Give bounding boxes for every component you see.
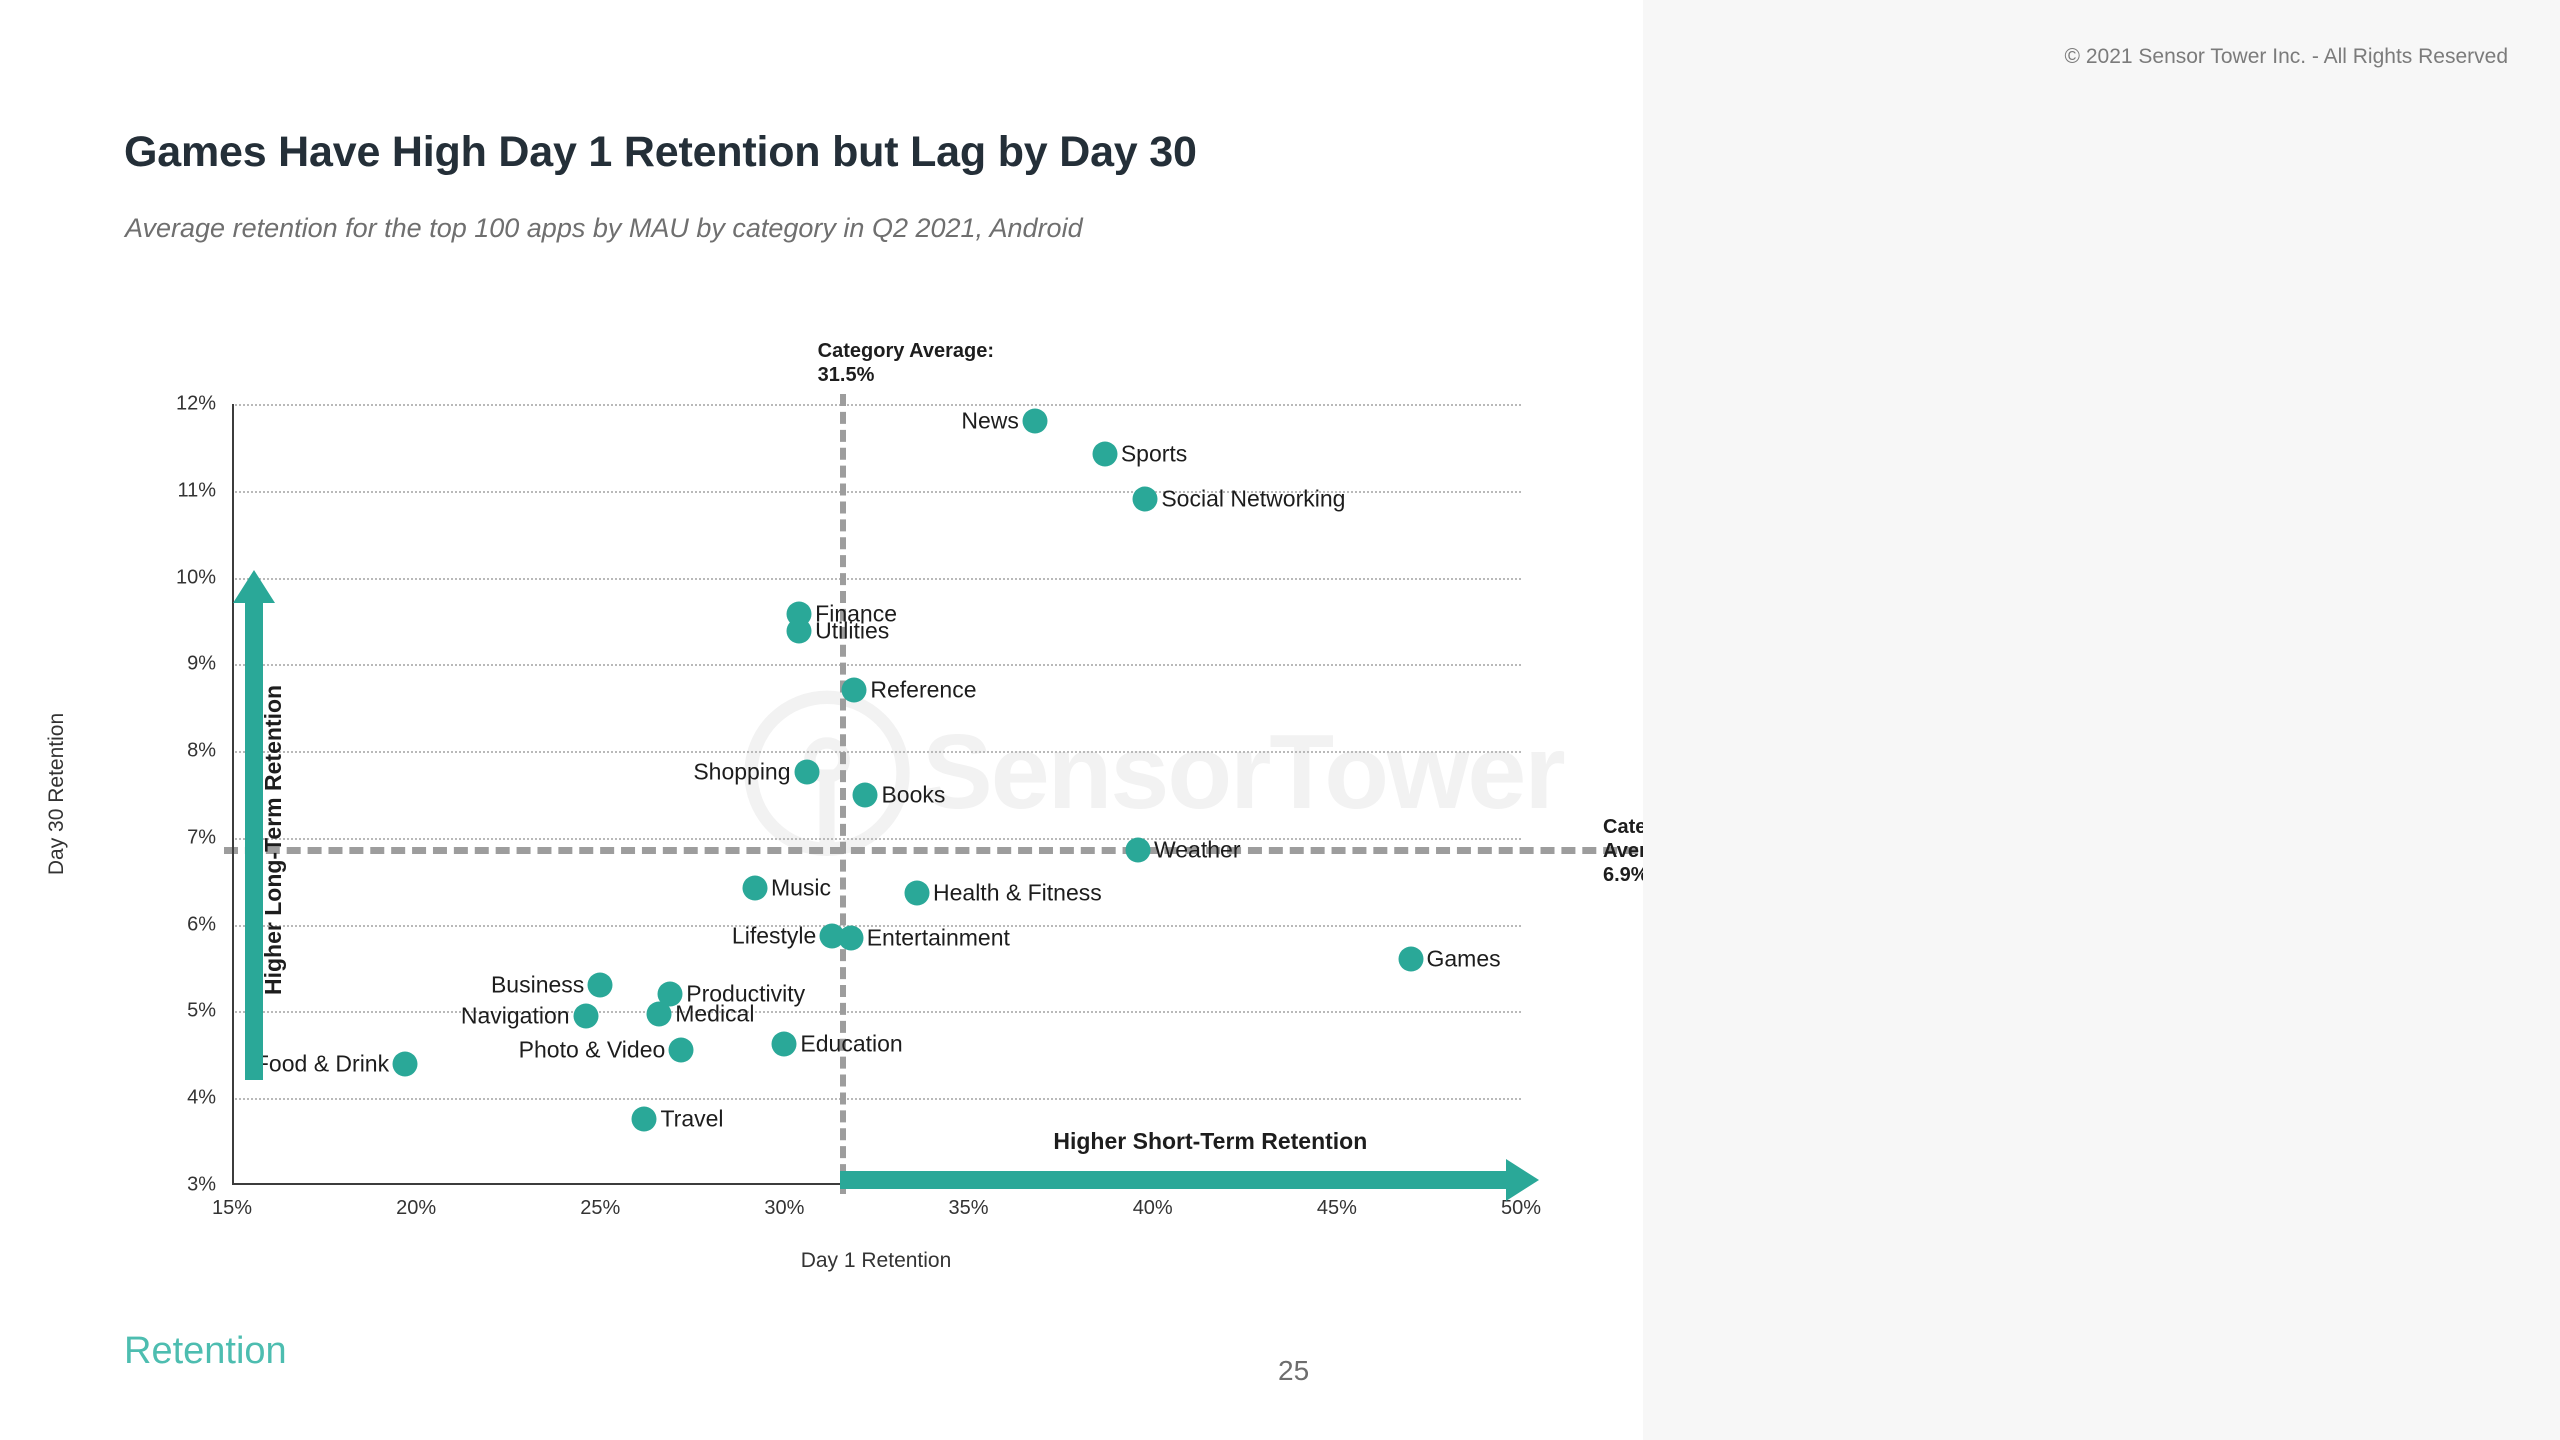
data-point-entertainment[interactable] [838, 925, 863, 950]
data-point-photo-video[interactable] [669, 1038, 694, 1063]
gridline [232, 404, 1521, 406]
data-point-navigation[interactable] [573, 1003, 598, 1028]
y-axis-tick-label: 5% [187, 1000, 216, 1023]
gridline [232, 838, 1521, 840]
data-point-news[interactable] [1022, 409, 1047, 434]
data-point-travel[interactable] [632, 1107, 657, 1132]
data-point-label-health-fitness: Health & Fitness [933, 880, 1102, 907]
data-point-label-social-networking: Social Networking [1161, 486, 1345, 513]
y-axis-tick-label: 6% [187, 913, 216, 936]
y-axis-line [232, 404, 234, 1185]
higher-long-term-retention-label: Higher Long-Term Retention [260, 685, 287, 995]
gridline [232, 751, 1521, 753]
gridline [232, 1011, 1521, 1013]
arrow-head [1506, 1159, 1539, 1201]
vertical-average-label: Category Average:31.5% [818, 339, 994, 388]
data-point-label-news: News [961, 408, 1019, 435]
data-point-weather[interactable] [1125, 838, 1150, 863]
x-axis-tick-label: 25% [580, 1197, 620, 1220]
y-axis-tick-label: 12% [176, 393, 216, 416]
data-point-label-games: Games [1427, 946, 1501, 973]
x-axis-title: Day 1 Retention [801, 1249, 952, 1273]
data-point-food-drink[interactable] [393, 1051, 418, 1076]
scatter-plot: SensorTower 3%4%5%6%7%8%9%10%11%12% 15%2… [232, 404, 1521, 1185]
gridline [232, 578, 1521, 580]
data-point-label-sports: Sports [1121, 441, 1187, 468]
data-point-games[interactable] [1398, 947, 1423, 972]
data-point-label-utilities: Utilities [815, 618, 889, 645]
data-point-label-photo-video: Photo & Video [519, 1037, 666, 1064]
y-axis-title: Day 30 Retention [45, 713, 69, 875]
page-subtitle: Average retention for the top 100 apps b… [125, 213, 1083, 244]
y-axis-tick-label: 11% [177, 479, 216, 502]
data-point-label-navigation: Navigation [461, 1002, 570, 1029]
watermark-text: SensorTower [922, 712, 1564, 833]
data-point-education[interactable] [772, 1032, 797, 1057]
y-axis-tick-label: 10% [176, 566, 216, 589]
slide-panel: Games Have High Day 1 Retention but Lag … [0, 0, 1643, 1440]
vertical-average-line [840, 394, 846, 1194]
x-axis-tick-label: 40% [1133, 1197, 1173, 1220]
horizontal-average-line [224, 847, 1659, 854]
y-axis-tick-label: 3% [187, 1174, 216, 1197]
data-point-label-food-drink: Food & Drink [255, 1050, 389, 1077]
data-point-books[interactable] [853, 782, 878, 807]
footer-section-name: Retention [124, 1330, 287, 1373]
y-axis-tick-label: 9% [187, 653, 216, 676]
gridline [232, 664, 1521, 666]
arrow-shaft [840, 1171, 1506, 1189]
x-axis-tick-label: 30% [764, 1197, 804, 1220]
data-point-label-medical: Medical [675, 1001, 754, 1028]
higher-short-term-retention-label: Higher Short-Term Retention [1053, 1128, 1367, 1155]
data-point-health-fitness[interactable] [905, 881, 930, 906]
x-axis-tick-label: 15% [212, 1197, 252, 1220]
x-axis-tick-label: 20% [396, 1197, 436, 1220]
data-point-shopping[interactable] [794, 759, 819, 784]
data-point-label-weather: Weather [1154, 837, 1241, 864]
data-point-medical[interactable] [647, 1002, 672, 1027]
page-number: 25 [1278, 1355, 1309, 1387]
vertical-average-label-line1: Category Average: [818, 339, 994, 363]
data-point-reference[interactable] [842, 678, 867, 703]
vertical-average-label-line2: 31.5% [818, 363, 994, 387]
data-point-label-business: Business [491, 972, 584, 999]
gridline [232, 1098, 1521, 1100]
page-title: Games Have High Day 1 Retention but Lag … [124, 128, 1197, 177]
y-axis-tick-label: 7% [187, 826, 216, 849]
x-axis-tick-label: 45% [1317, 1197, 1357, 1220]
arrow-head [233, 570, 275, 603]
data-point-utilities[interactable] [787, 619, 812, 644]
data-point-label-shopping: Shopping [693, 758, 790, 785]
data-point-label-music: Music [771, 875, 831, 902]
data-point-label-reference: Reference [870, 677, 976, 704]
data-point-music[interactable] [742, 876, 767, 901]
data-point-social-networking[interactable] [1133, 487, 1158, 512]
y-axis-tick-label: 4% [187, 1087, 216, 1110]
data-point-sports[interactable] [1092, 442, 1117, 467]
data-point-business[interactable] [588, 973, 613, 998]
data-point-label-education: Education [800, 1031, 902, 1058]
data-point-label-travel: Travel [660, 1106, 723, 1133]
data-point-label-entertainment: Entertainment [867, 924, 1010, 951]
commentary-panel: © 2021 Sensor Tower Inc. - All Rights Re… [1643, 0, 2560, 1440]
data-point-label-lifestyle: Lifestyle [732, 922, 816, 949]
data-point-label-books: Books [881, 781, 945, 808]
x-axis-tick-label: 35% [949, 1197, 989, 1220]
y-axis-tick-label: 8% [187, 740, 216, 763]
copyright-notice: © 2021 Sensor Tower Inc. - All Rights Re… [2065, 45, 2508, 69]
